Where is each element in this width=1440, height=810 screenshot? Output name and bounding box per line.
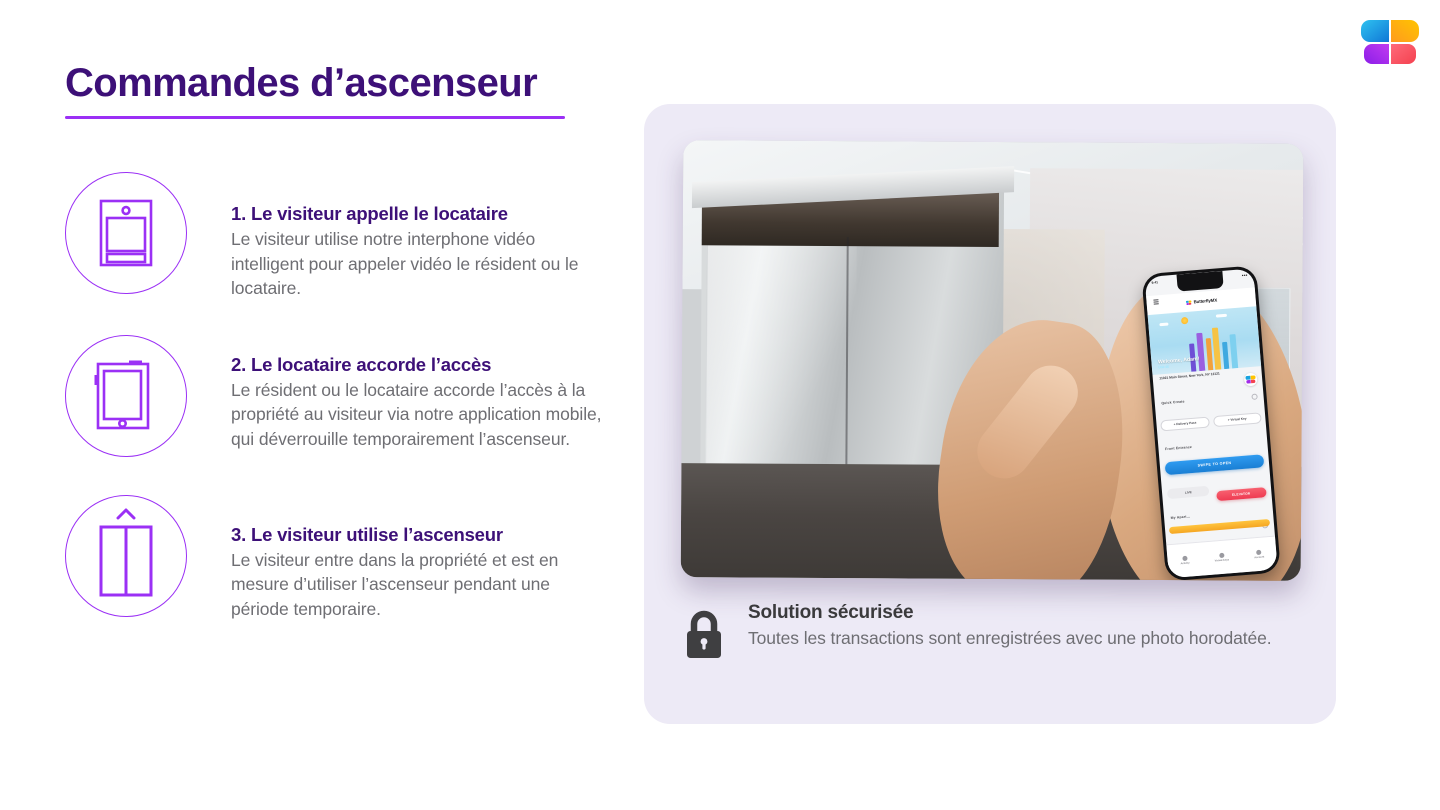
avatar[interactable] bbox=[1244, 373, 1258, 387]
virtual-key-chip[interactable]: + Virtual Key bbox=[1213, 412, 1262, 427]
step-1-text: 1. Le visiteur appelle le locataire Le v… bbox=[191, 172, 610, 301]
building-shape bbox=[1206, 339, 1214, 371]
step-heading: 1. Le visiteur appelle le locataire bbox=[231, 202, 610, 225]
step-heading: 2. Le locataire accorde l’accès bbox=[231, 353, 610, 376]
secure-body: Toutes les transactions sont enregistrée… bbox=[748, 626, 1302, 650]
title-underline-rule bbox=[65, 116, 565, 119]
live-view-button[interactable]: LIVE bbox=[1168, 486, 1210, 499]
delivery-pass-chip[interactable]: + Delivery Pass bbox=[1161, 416, 1210, 431]
step-3-text: 3. Le visiteur utilise l’ascenseur Le vi… bbox=[191, 495, 610, 622]
status-icons: ●●● bbox=[1242, 273, 1248, 277]
cloud-icon bbox=[1216, 315, 1227, 319]
building-shape bbox=[1223, 342, 1230, 369]
app-brand-name: ButterflyMX bbox=[1194, 298, 1218, 305]
tab-label: Activity bbox=[1181, 562, 1190, 566]
quick-create-chips: + Delivery Pass + Virtual Key bbox=[1161, 412, 1262, 431]
page-title: Commandes d’ascenseur bbox=[65, 60, 665, 106]
cloud-icon bbox=[1160, 323, 1169, 327]
status-time: 9:41 bbox=[1152, 280, 1159, 285]
step-body: Le résident ou le locataire accorde l’ac… bbox=[231, 378, 610, 452]
apartment-action-button[interactable] bbox=[1170, 519, 1271, 534]
gear-icon[interactable] bbox=[1252, 394, 1258, 400]
front-entrance-label: Front Entrance bbox=[1165, 445, 1192, 451]
building-shape bbox=[1230, 335, 1239, 369]
secure-solution-note: Solution sécurisée Toutes les transactio… bbox=[682, 602, 1302, 665]
tab-label: Virtual Keys bbox=[1215, 559, 1230, 563]
quick-create-label: Quick Create bbox=[1162, 400, 1186, 406]
pointing-finger bbox=[967, 354, 1089, 488]
intercom-panel-icon bbox=[65, 172, 187, 294]
left-hand bbox=[922, 307, 1139, 581]
butterflymx-logo bbox=[1358, 14, 1422, 70]
step-heading: 3. Le visiteur utilise l’ascenseur bbox=[231, 523, 610, 546]
step-body: Le visiteur utilise notre interphone vid… bbox=[231, 227, 610, 301]
tab-activity[interactable]: Activity bbox=[1180, 556, 1190, 566]
hands-holding-phone: 9:41 ●●● bbox=[941, 247, 1303, 581]
app-hero-banner: Welcome, Adam! Unit 4E bbox=[1148, 306, 1262, 375]
step-body: Le visiteur entre dans la propriété et e… bbox=[231, 548, 610, 622]
step-3-icon-wrap bbox=[65, 495, 191, 621]
smartphone-device: 9:41 ●●● bbox=[1142, 266, 1282, 581]
smartphone-icon bbox=[65, 335, 187, 457]
secure-title: Solution sécurisée bbox=[748, 602, 1302, 624]
photo-scene: 9:41 ●●● bbox=[681, 140, 1304, 581]
media-card: 9:41 ●●● bbox=[644, 104, 1336, 724]
elevator-doors-icon bbox=[65, 495, 187, 617]
page-title-block: Commandes d’ascenseur bbox=[65, 60, 665, 119]
lock-icon bbox=[682, 602, 726, 665]
tab-account[interactable]: Account bbox=[1254, 550, 1265, 560]
sun-icon bbox=[1181, 318, 1189, 326]
swipe-to-open-button[interactable]: SWIPE TO OPEN bbox=[1166, 454, 1265, 475]
step-2-icon-wrap bbox=[65, 335, 191, 461]
my-apartment-label: My Apart... bbox=[1171, 515, 1191, 521]
step-1-icon-wrap bbox=[65, 172, 191, 298]
step-2-text: 2. Le locataire accorde l’accès Le résid… bbox=[191, 335, 610, 452]
steps-list: 1. Le visiteur appelle le locataire Le v… bbox=[65, 172, 610, 655]
step-item: 3. Le visiteur utilise l’ascenseur Le vi… bbox=[65, 495, 610, 622]
step-item: 2. Le locataire accorde l’accès Le résid… bbox=[65, 335, 610, 461]
butterflymx-mark-icon bbox=[1186, 299, 1192, 305]
tab-virtual-keys[interactable]: Virtual Keys bbox=[1215, 553, 1230, 563]
elevator-lobby-photo: 9:41 ●●● bbox=[681, 140, 1304, 581]
step-item: 1. Le visiteur appelle le locataire Le v… bbox=[65, 172, 610, 301]
secure-text-block: Solution sécurisée Toutes les transactio… bbox=[748, 602, 1302, 650]
phone-tab-bar: Activity Virtual Keys Account bbox=[1167, 536, 1279, 579]
building-shape bbox=[1197, 334, 1206, 372]
building-shape bbox=[1213, 327, 1222, 370]
phone-screen: 9:41 ●●● bbox=[1145, 269, 1278, 579]
unit-text: Unit 4E bbox=[1159, 365, 1170, 370]
menu-icon[interactable] bbox=[1153, 300, 1158, 304]
tab-label: Account bbox=[1255, 556, 1265, 560]
elevator-button[interactable]: ELEVATOR bbox=[1216, 488, 1267, 502]
